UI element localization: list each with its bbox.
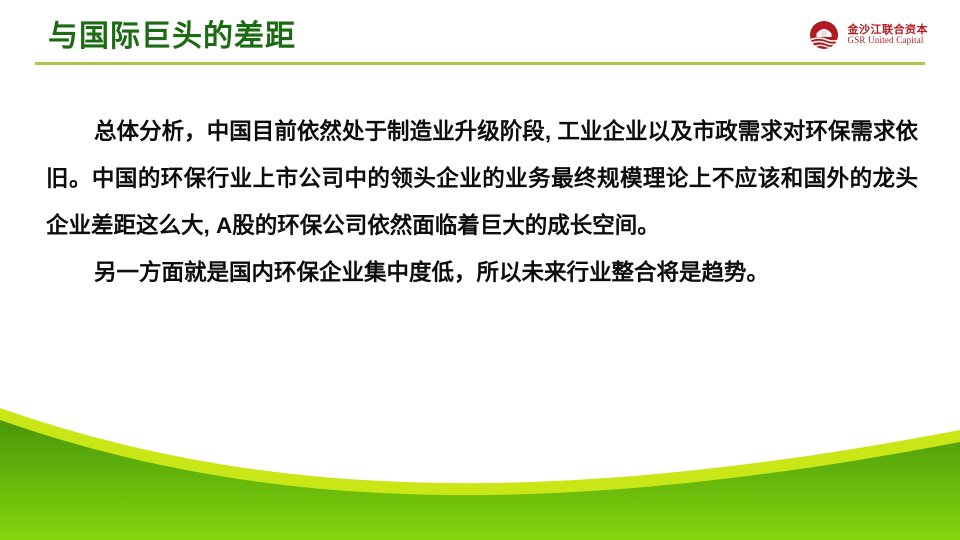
band-edge-highlight xyxy=(0,408,960,499)
logo-wordmark: 金沙江联合资本 GSR United Capital xyxy=(848,25,929,46)
gsr-emblem-icon xyxy=(809,20,843,50)
page-title: 与国际巨头的差距 xyxy=(48,22,296,52)
band-body xyxy=(0,420,960,540)
title-underline-rule xyxy=(35,62,925,65)
footer-grass-band xyxy=(0,380,960,540)
body-paragraph-2: 另一方面就是国内环保企业集中度低，所以未来行业整合将是趋势。 xyxy=(46,249,918,296)
brand-logo: 金沙江联合资本 GSR United Capital xyxy=(809,20,929,50)
slide-root: 与国际巨头的差距 金沙江联合资本 GSR United Capital 总体分析… xyxy=(0,0,960,540)
slide-body: 总体分析，中国目前依然处于制造业升级阶段, 工业企业以及市政需求对环保需求依旧。… xyxy=(46,108,918,296)
body-paragraph-1: 总体分析，中国目前依然处于制造业升级阶段, 工业企业以及市政需求对环保需求依旧。… xyxy=(46,108,918,249)
logo-name-en: GSR United Capital xyxy=(848,36,929,45)
